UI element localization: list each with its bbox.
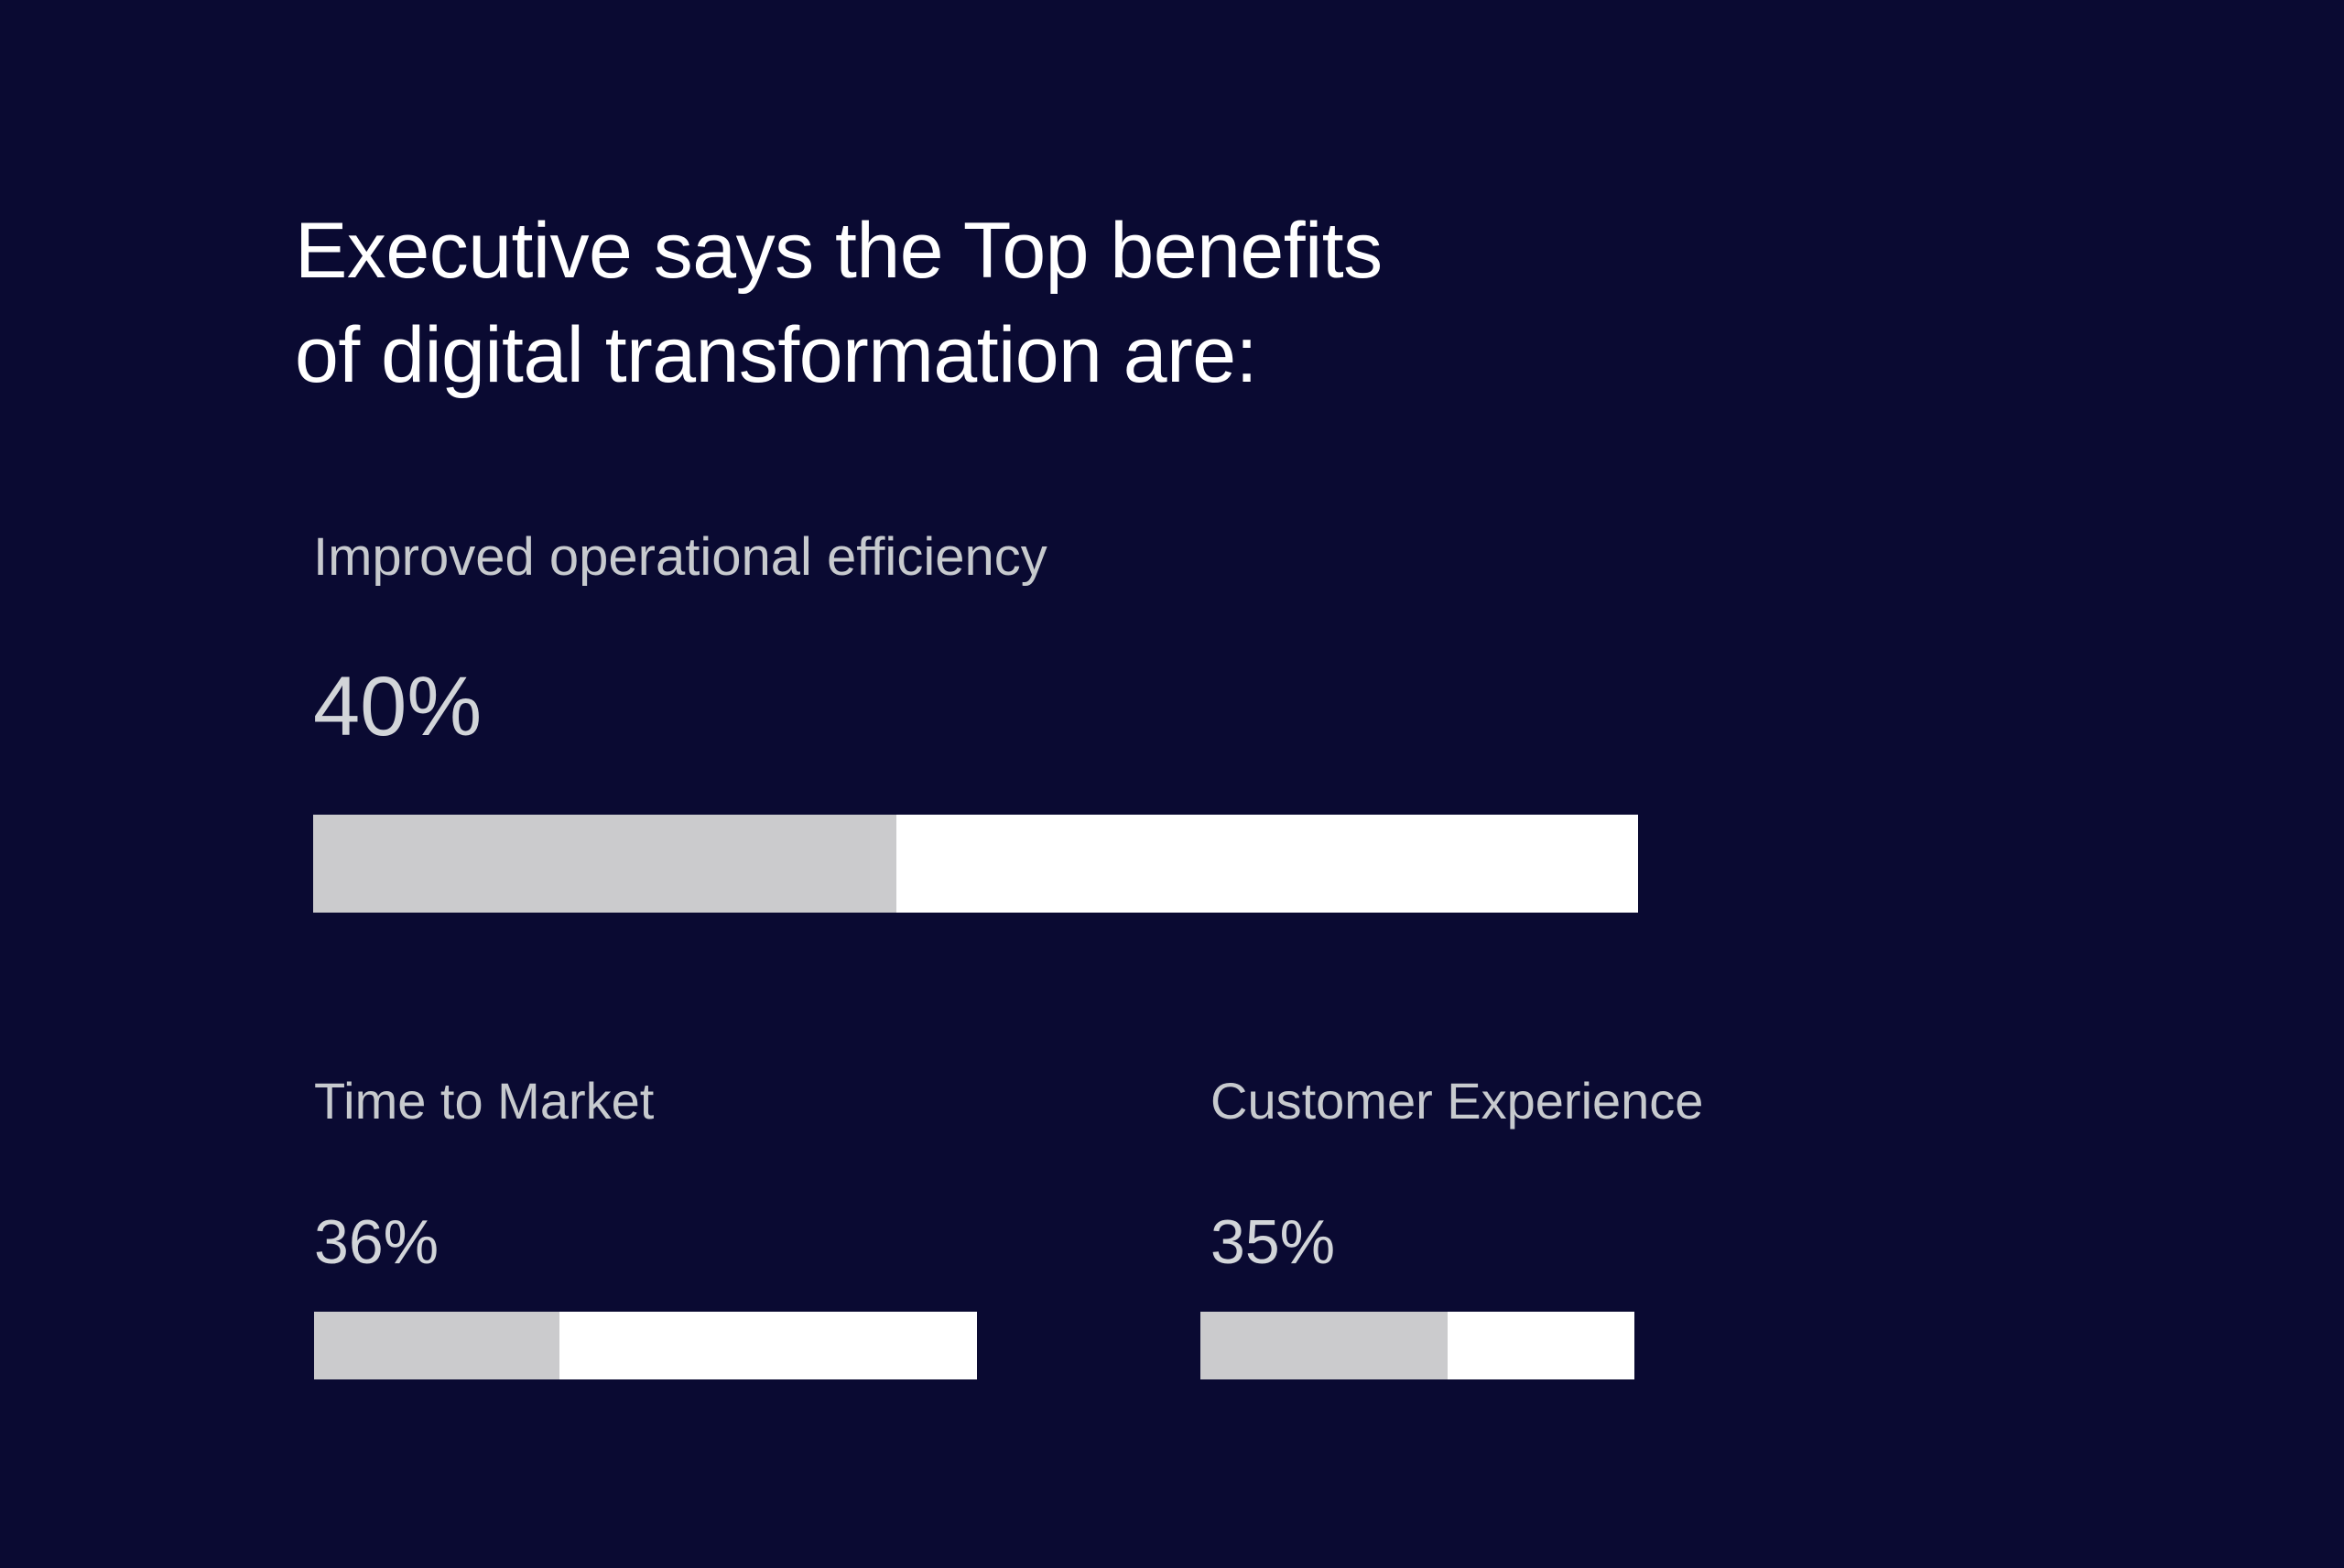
page-title: Executive says the Top benefits of digit… [295,200,1851,407]
progress-bar-time-to-market [314,1312,977,1379]
stat-label-customer-experience: Customer Experience [1210,1076,1703,1127]
stat-label-time-to-market: Time to Market [314,1076,977,1127]
stat-block-improved-operational-efficiency: Improved operational efficiency 40% [313,531,1638,913]
stat-block-time-to-market: Time to Market 36% [314,1076,977,1379]
progress-bar-fill-time-to-market [314,1312,559,1379]
stat-label-improved-operational-efficiency: Improved operational efficiency [313,531,1638,584]
progress-bar-customer-experience [1200,1312,1634,1379]
slide-canvas: Executive says the Top benefits of digit… [0,0,2344,1568]
stat-value-improved-operational-efficiency: 40% [313,665,1638,749]
stat-value-time-to-market: 36% [314,1211,977,1273]
progress-bar-improved-operational-efficiency [313,815,1638,913]
stat-block-customer-experience: Customer Experience 35% [1200,1076,1703,1379]
progress-bar-fill-customer-experience [1200,1312,1448,1379]
progress-bar-fill-improved-operational-efficiency [313,815,896,913]
stat-value-customer-experience: 35% [1210,1211,1703,1273]
